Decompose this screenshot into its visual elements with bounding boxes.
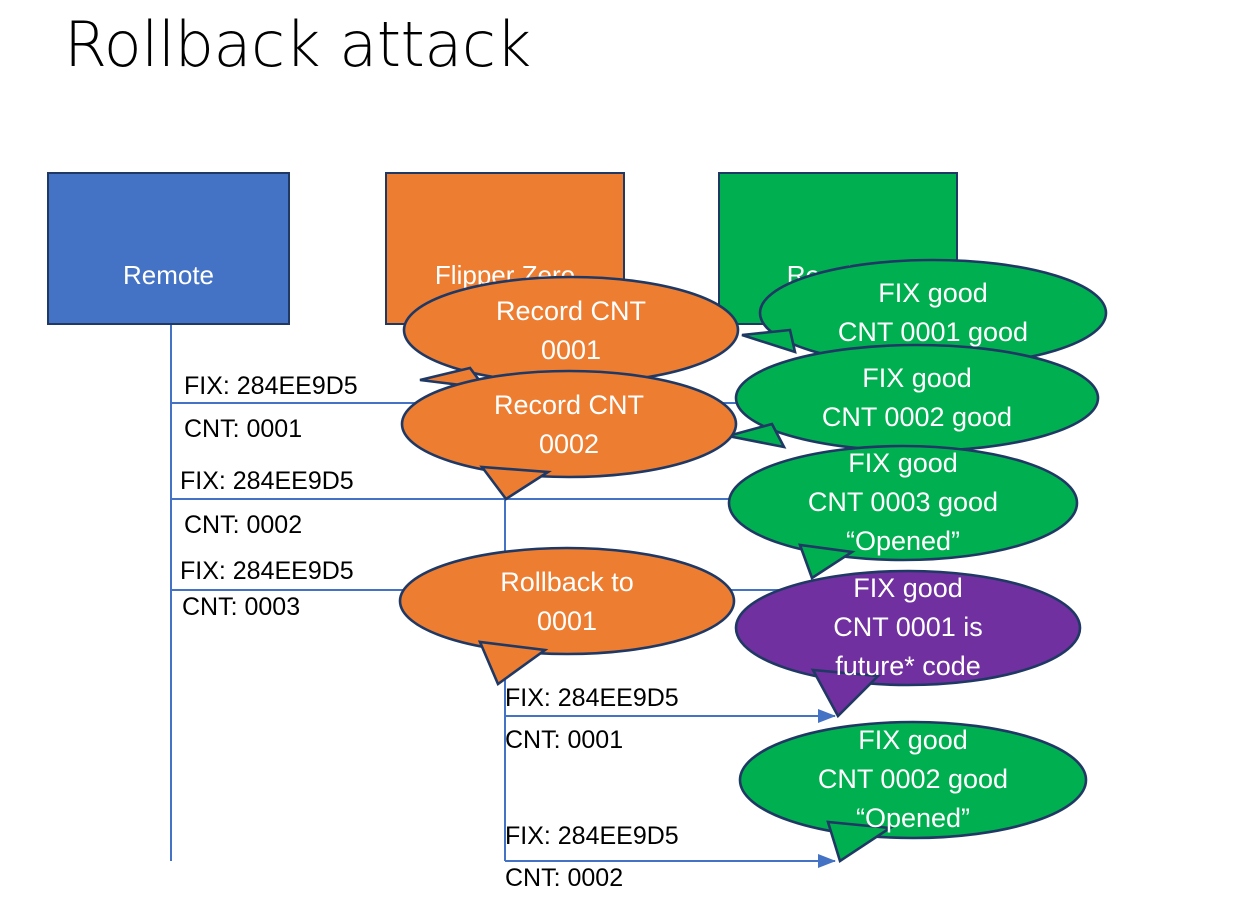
flipper-callout-3-text: Rollback to 0001 [394,563,740,641]
lane-label-remote: Remote [123,261,214,290]
receiver-callout-5-text: FIX good CNT 0002 good “Opened” [740,721,1086,838]
receiver-callout-3-text: FIX good CNT 0003 good “Opened” [730,444,1076,561]
flipper-callout-2-text: Record CNT 0002 [396,386,742,464]
lane-box-remote[interactable]: Remote [47,172,290,325]
slide-canvas: Rollback attack Remote Flipper Zero Rece… [0,0,1233,898]
message-3-cnt-label: CNT: 0003 [182,593,300,622]
message-5-cnt-label: CNT: 0002 [505,864,623,893]
message-4-fix-label: FIX: 284EE9D5 [505,684,679,713]
message-5-fix-label: FIX: 284EE9D5 [505,822,679,851]
message-4-cnt-label: CNT: 0001 [505,726,623,755]
message-2-cnt-label: CNT: 0002 [184,511,302,540]
receiver-callout-4-text: FIX good CNT 0001 is future* code [735,569,1081,686]
message-2-fix-label: FIX: 284EE9D5 [180,467,354,496]
receiver-callout-1-text: FIX good CNT 0001 good [760,274,1106,352]
message-1-cnt-label: CNT: 0001 [184,415,302,444]
receiver-callout-2-text: FIX good CNT 0002 good [744,359,1090,437]
page-title: Rollback attack [64,8,531,81]
message-3-fix-label: FIX: 284EE9D5 [180,557,354,586]
lane-label-flipper: Flipper Zero [435,261,575,290]
flipper-callout-1-text: Record CNT 0001 [398,292,744,370]
message-1-fix-label: FIX: 284EE9D5 [184,372,358,401]
